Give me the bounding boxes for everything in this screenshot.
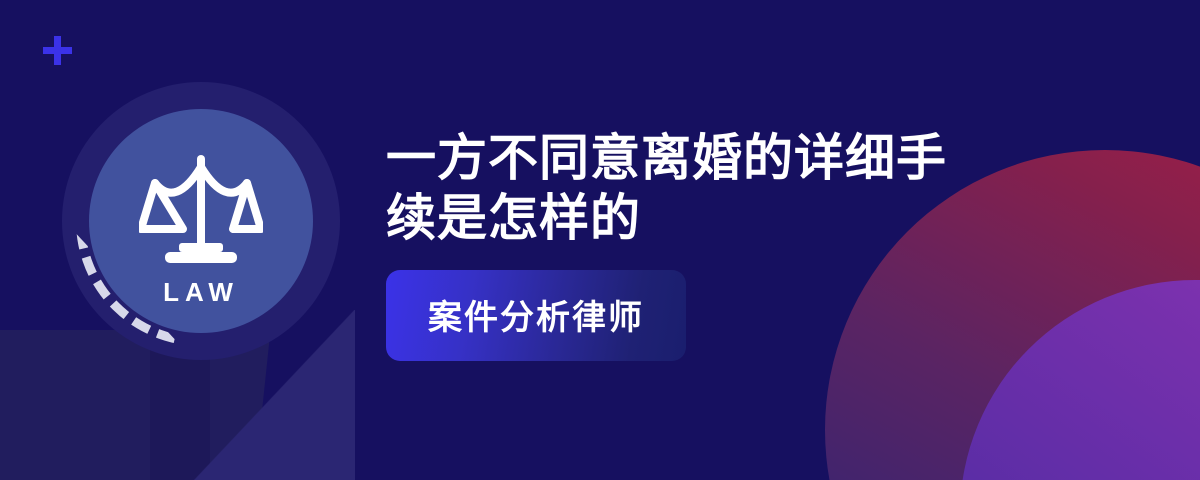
case-analysis-lawyer-button[interactable]: 案件分析律师 xyxy=(386,270,686,361)
emblem-inner-disc: LAW xyxy=(89,109,313,333)
law-article-banner: LAW 一方不同意离婚的详细手续是怎样的 案件分析律师 xyxy=(0,0,1200,480)
scales-of-justice-icon xyxy=(139,153,263,271)
law-emblem: LAW xyxy=(62,82,340,360)
plus-icon xyxy=(43,36,72,65)
content-block: 一方不同意离婚的详细手续是怎样的 案件分析律师 xyxy=(386,128,1126,361)
page-title: 一方不同意离婚的详细手续是怎样的 xyxy=(386,128,976,248)
emblem-wordmark: LAW xyxy=(89,277,313,308)
